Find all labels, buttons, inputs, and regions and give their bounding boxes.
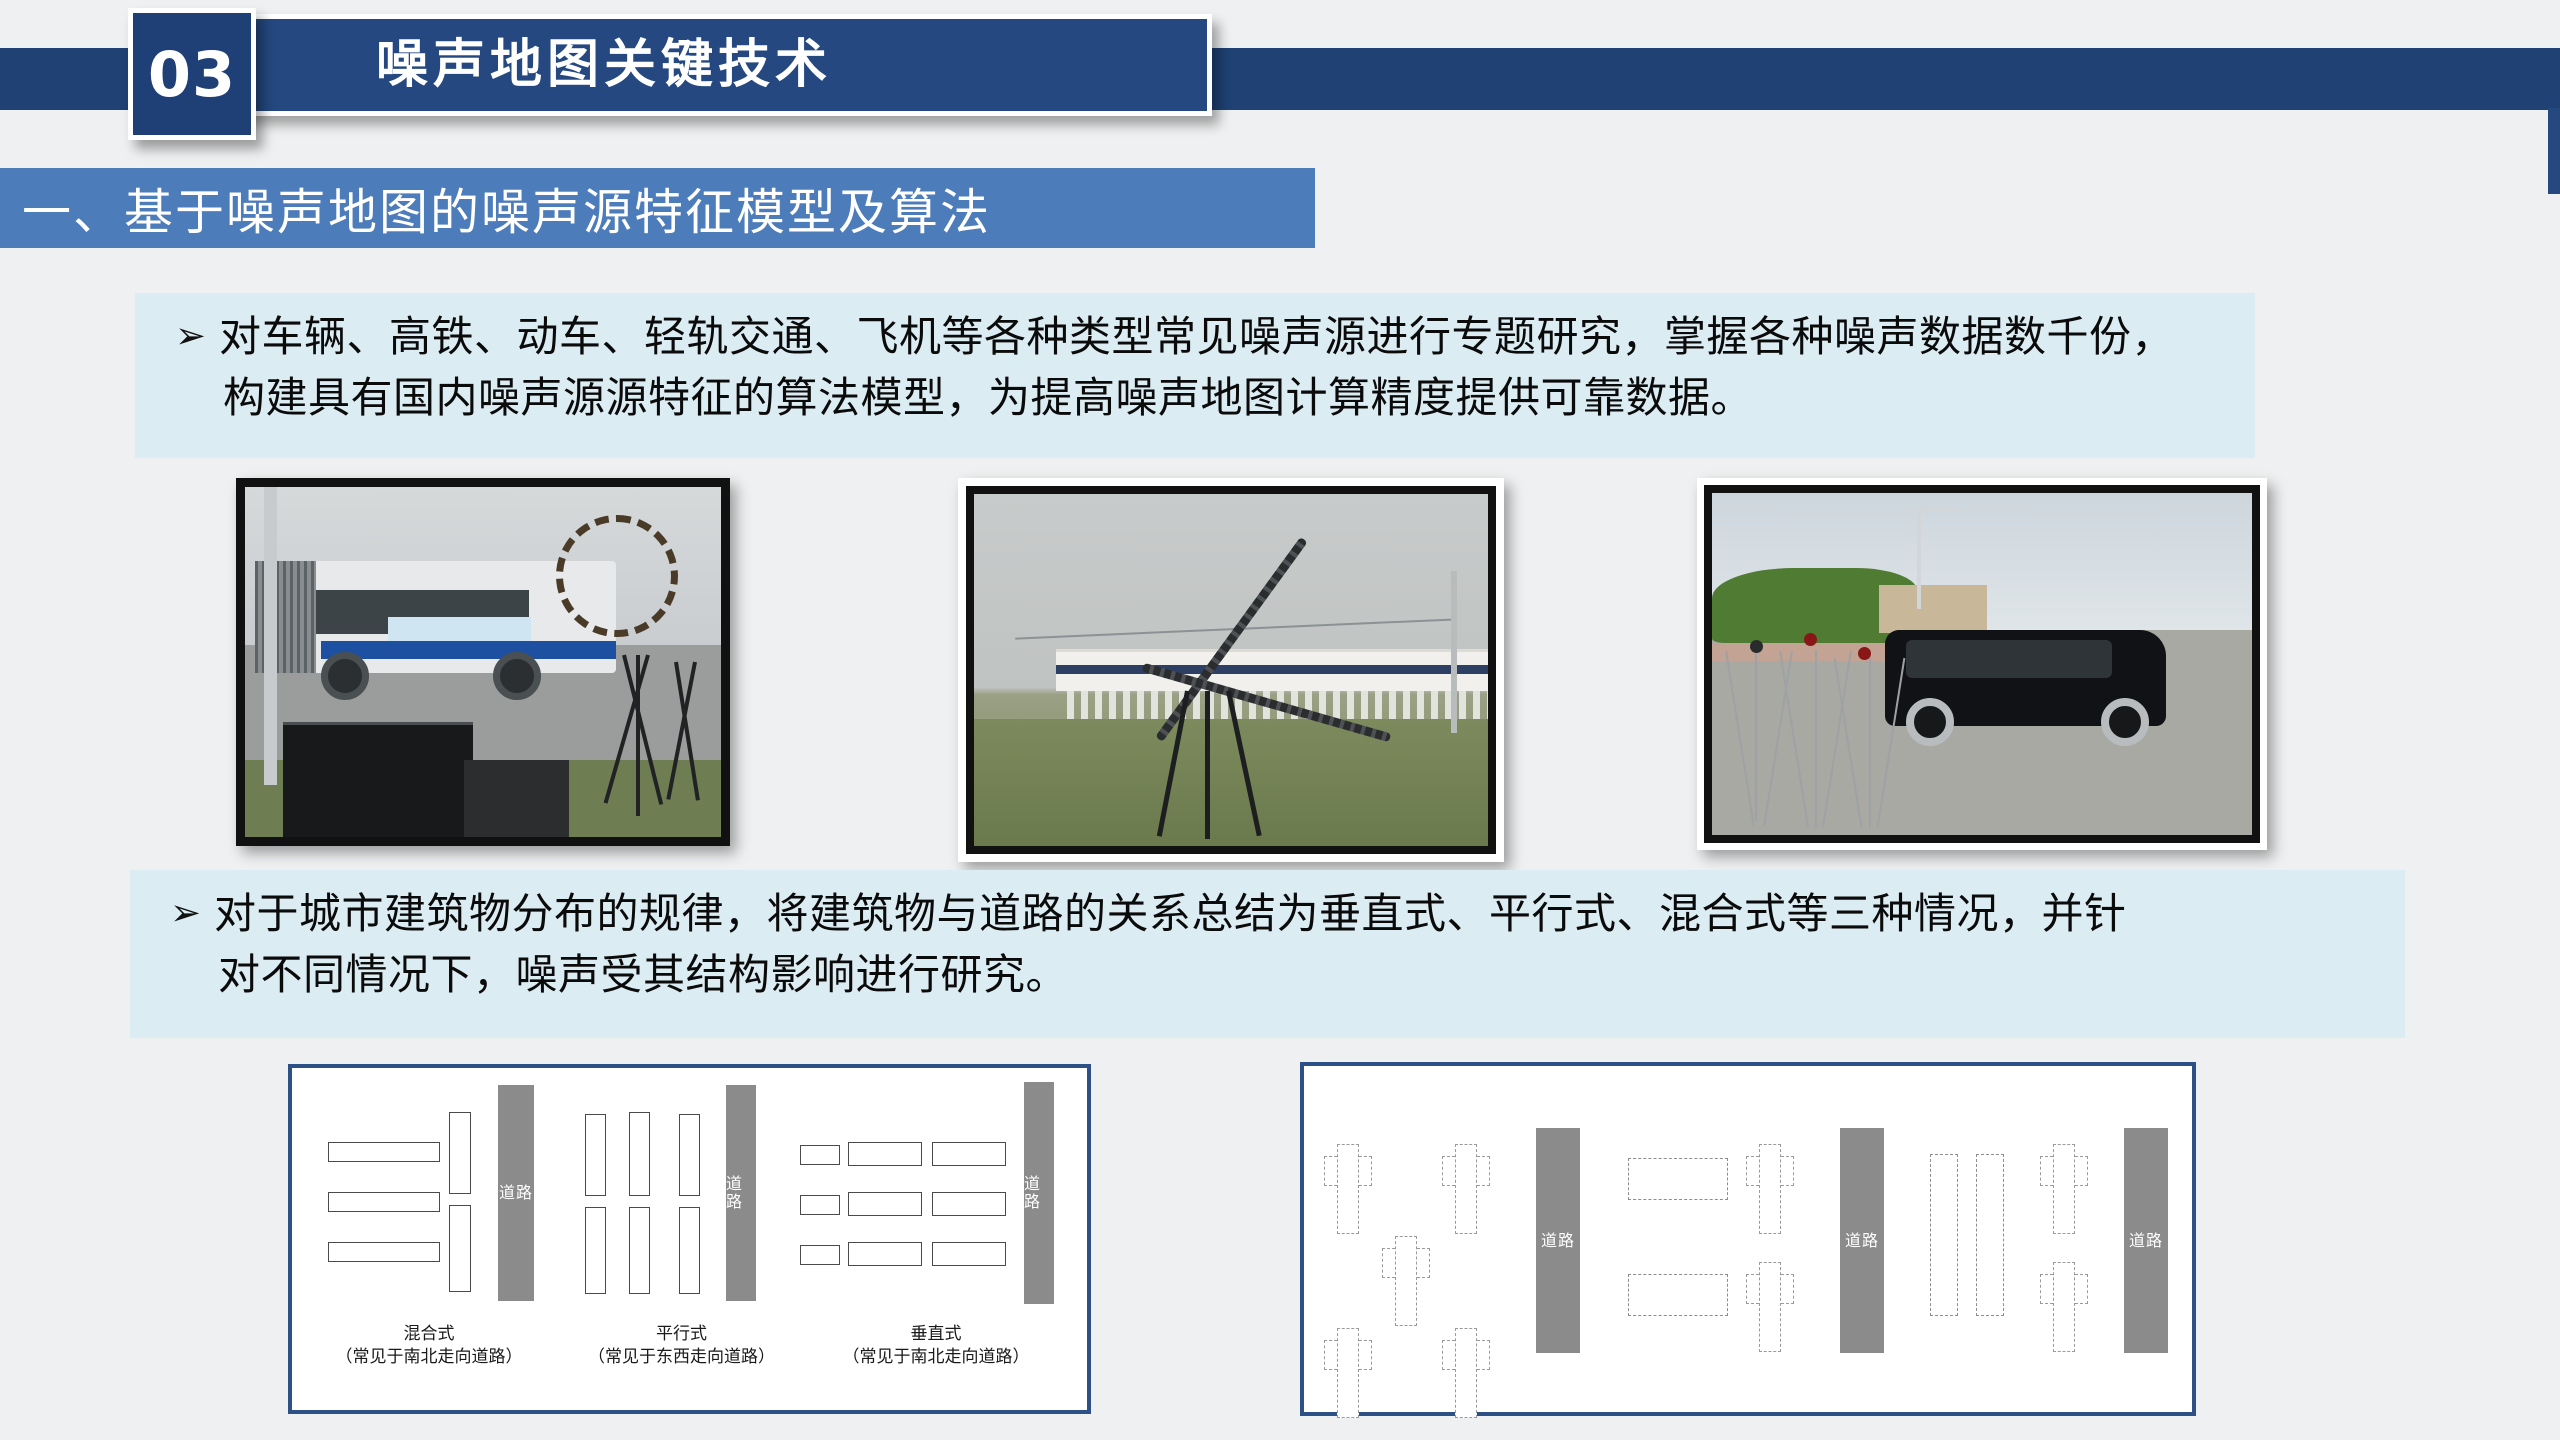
photo-1-content (245, 487, 721, 837)
building-block (449, 1205, 471, 1292)
tripod-leg (1815, 650, 1817, 828)
building-block (848, 1192, 922, 1216)
building-block (932, 1242, 1006, 1266)
building-block (585, 1207, 606, 1294)
point-tower-footprint (1442, 1144, 1488, 1232)
building-block (328, 1242, 440, 1262)
building-block (629, 1207, 650, 1294)
road-bar-1: 道路 (498, 1085, 534, 1301)
building-block (932, 1192, 1006, 1216)
point-tower-footprint (2040, 1262, 2086, 1350)
bullet-1-line-2: 构建具有国内噪声源源特征的算法模型，为提高噪声地图计算精度提供可靠数据。 (219, 368, 2174, 429)
tripod-leg (1205, 691, 1210, 839)
building-block (449, 1112, 471, 1194)
building-block (328, 1142, 440, 1162)
vegetation-ground (974, 719, 1488, 846)
road-label: 道路 (726, 1175, 756, 1211)
bullet-block-1: ➢ 对车辆、高铁、动车、轻轨交通、飞机等各种类型常见噪声源进行专题研究，掌握各种… (135, 293, 2255, 458)
sound-level-meter-icon (1804, 633, 1817, 646)
bullet-block-2: ➢ 对于城市建筑物分布的规律，将建筑物与道路的关系总结为垂直式、平行式、混合式等… (130, 870, 2405, 1038)
high-speed-train-measurement-photo (958, 478, 1504, 862)
building-block (585, 1114, 606, 1196)
road-label: 道路 (499, 1184, 533, 1202)
building-block (800, 1195, 840, 1215)
street-lamp-arm (1917, 507, 1955, 511)
building-road-layout-diagram: 道路 混合式 （常见于南北走向道路） 道路 平行式 （常见于东西走向道路） 道路… (288, 1064, 1091, 1414)
road-bar-3: 道路 (2124, 1128, 2168, 1353)
sound-level-meter-icon (1750, 640, 1763, 653)
building-block (679, 1207, 700, 1294)
point-tower-footprint (1746, 1262, 1792, 1350)
header-title-plate: 噪声地图关键技术 (196, 14, 1212, 116)
bullet-1-text: 对车辆、高铁、动车、轻轨交通、飞机等各种类型常见噪声源进行专题研究，掌握各种噪声… (219, 307, 2174, 429)
van-pass-by-measurement-photo (1697, 478, 2267, 850)
photo-2-content (974, 494, 1488, 846)
building-block (328, 1192, 440, 1212)
building-block (629, 1112, 650, 1196)
road-label: 道路 (1845, 1232, 1879, 1250)
sound-level-meter-icon (1858, 647, 1871, 660)
slab-building-footprint (1628, 1274, 1728, 1316)
point-tower-footprint (1324, 1144, 1370, 1232)
building-block (848, 1142, 922, 1166)
tripod-leg (636, 655, 640, 816)
road-label: 道路 (1024, 1175, 1054, 1211)
building-block (679, 1114, 700, 1196)
laptop-screen (283, 722, 473, 837)
road-bar-2: 道路 (726, 1085, 756, 1301)
van-wheel-front (2101, 698, 2149, 746)
tripod-leg (1869, 657, 1871, 828)
bullet-2-line-1: 对于城市建筑物分布的规律，将建筑物与道路的关系总结为垂直式、平行式、混合式等三种… (214, 889, 2127, 938)
point-tower-footprint (1442, 1328, 1488, 1416)
section-number: 03 (148, 38, 236, 111)
point-tower-footprint (1382, 1236, 1428, 1324)
slab-building-footprint (1628, 1158, 1728, 1200)
header-right-accent (2548, 108, 2560, 194)
tripod-leg (1755, 650, 1757, 821)
building-block (800, 1245, 840, 1265)
road-label: 道路 (2129, 1232, 2163, 1250)
bus-wheel-front (493, 652, 541, 700)
case-title-2: 平行式 (564, 1323, 799, 1346)
road-label: 道路 (1541, 1232, 1575, 1250)
roadside-pole (264, 487, 277, 785)
case-note-3: （常见于南北走向道路） (812, 1346, 1060, 1369)
road-bar-2: 道路 (1840, 1128, 1884, 1353)
subtitle-bar: 一、基于噪声地图的噪声源特征模型及算法 (0, 168, 1315, 248)
bullet-1-line-1: 对车辆、高铁、动车、轻轨交通、飞机等各种类型常见噪声源进行专题研究，掌握各种噪声… (219, 312, 2174, 361)
case-title-3: 垂直式 (812, 1323, 1060, 1346)
road-bar-3: 道路 (1024, 1082, 1054, 1304)
photo-3-content (1712, 493, 2252, 835)
page-title: 噪声地图关键技术 (376, 39, 832, 91)
case-note-1: （常见于南北走向道路） (314, 1346, 544, 1369)
background-building (1879, 585, 1987, 633)
van-windows (1906, 640, 2111, 678)
sidewalk-curb (1712, 643, 1906, 660)
section-number-badge: 03 (128, 8, 256, 140)
building-block (848, 1242, 922, 1266)
strip-building-footprint (1930, 1154, 1958, 1316)
bullet-2-line-2: 对不同情况下，噪声受其结构影响进行研究。 (214, 945, 2127, 1006)
case-caption-2: 平行式 （常见于东西走向道路） (564, 1323, 799, 1369)
case-caption-1: 混合式 （常见于南北走向道路） (314, 1323, 544, 1369)
subtitle-text: 一、基于噪声地图的噪声源特征模型及算法 (22, 173, 991, 244)
point-tower-footprint (1324, 1328, 1370, 1416)
case-note-2: （常见于东西走向道路） (564, 1346, 799, 1369)
circular-microphone-array-icon (556, 515, 678, 637)
building-block (800, 1145, 840, 1165)
road-bar-1: 道路 (1536, 1128, 1580, 1353)
case-title-1: 混合式 (314, 1323, 544, 1346)
strip-building-footprint (1976, 1154, 2004, 1316)
point-tower-footprint (1746, 1144, 1792, 1232)
building-block (932, 1142, 1006, 1166)
train-blue-band (1056, 665, 1488, 674)
case-caption-3: 垂直式 （常见于南北走向道路） (812, 1323, 1060, 1369)
catenary-mast (1451, 571, 1457, 733)
bullet-arrow-icon: ➢ (170, 884, 214, 942)
bullet-2-text: 对于城市建筑物分布的规律，将建筑物与道路的关系总结为垂直式、平行式、混合式等三种… (214, 884, 2127, 1006)
bus-wheel-rear (321, 652, 369, 700)
equipment-case (464, 760, 569, 837)
bus-noise-measurement-photo (236, 478, 730, 846)
street-lamp-pole (1917, 507, 1921, 610)
building-footprint-layout-diagram: 道路 道路 道路 (1300, 1062, 2196, 1416)
bullet-arrow-icon: ➢ (175, 307, 219, 365)
point-tower-footprint (2040, 1144, 2086, 1232)
bus-blue-stripe (321, 641, 616, 659)
